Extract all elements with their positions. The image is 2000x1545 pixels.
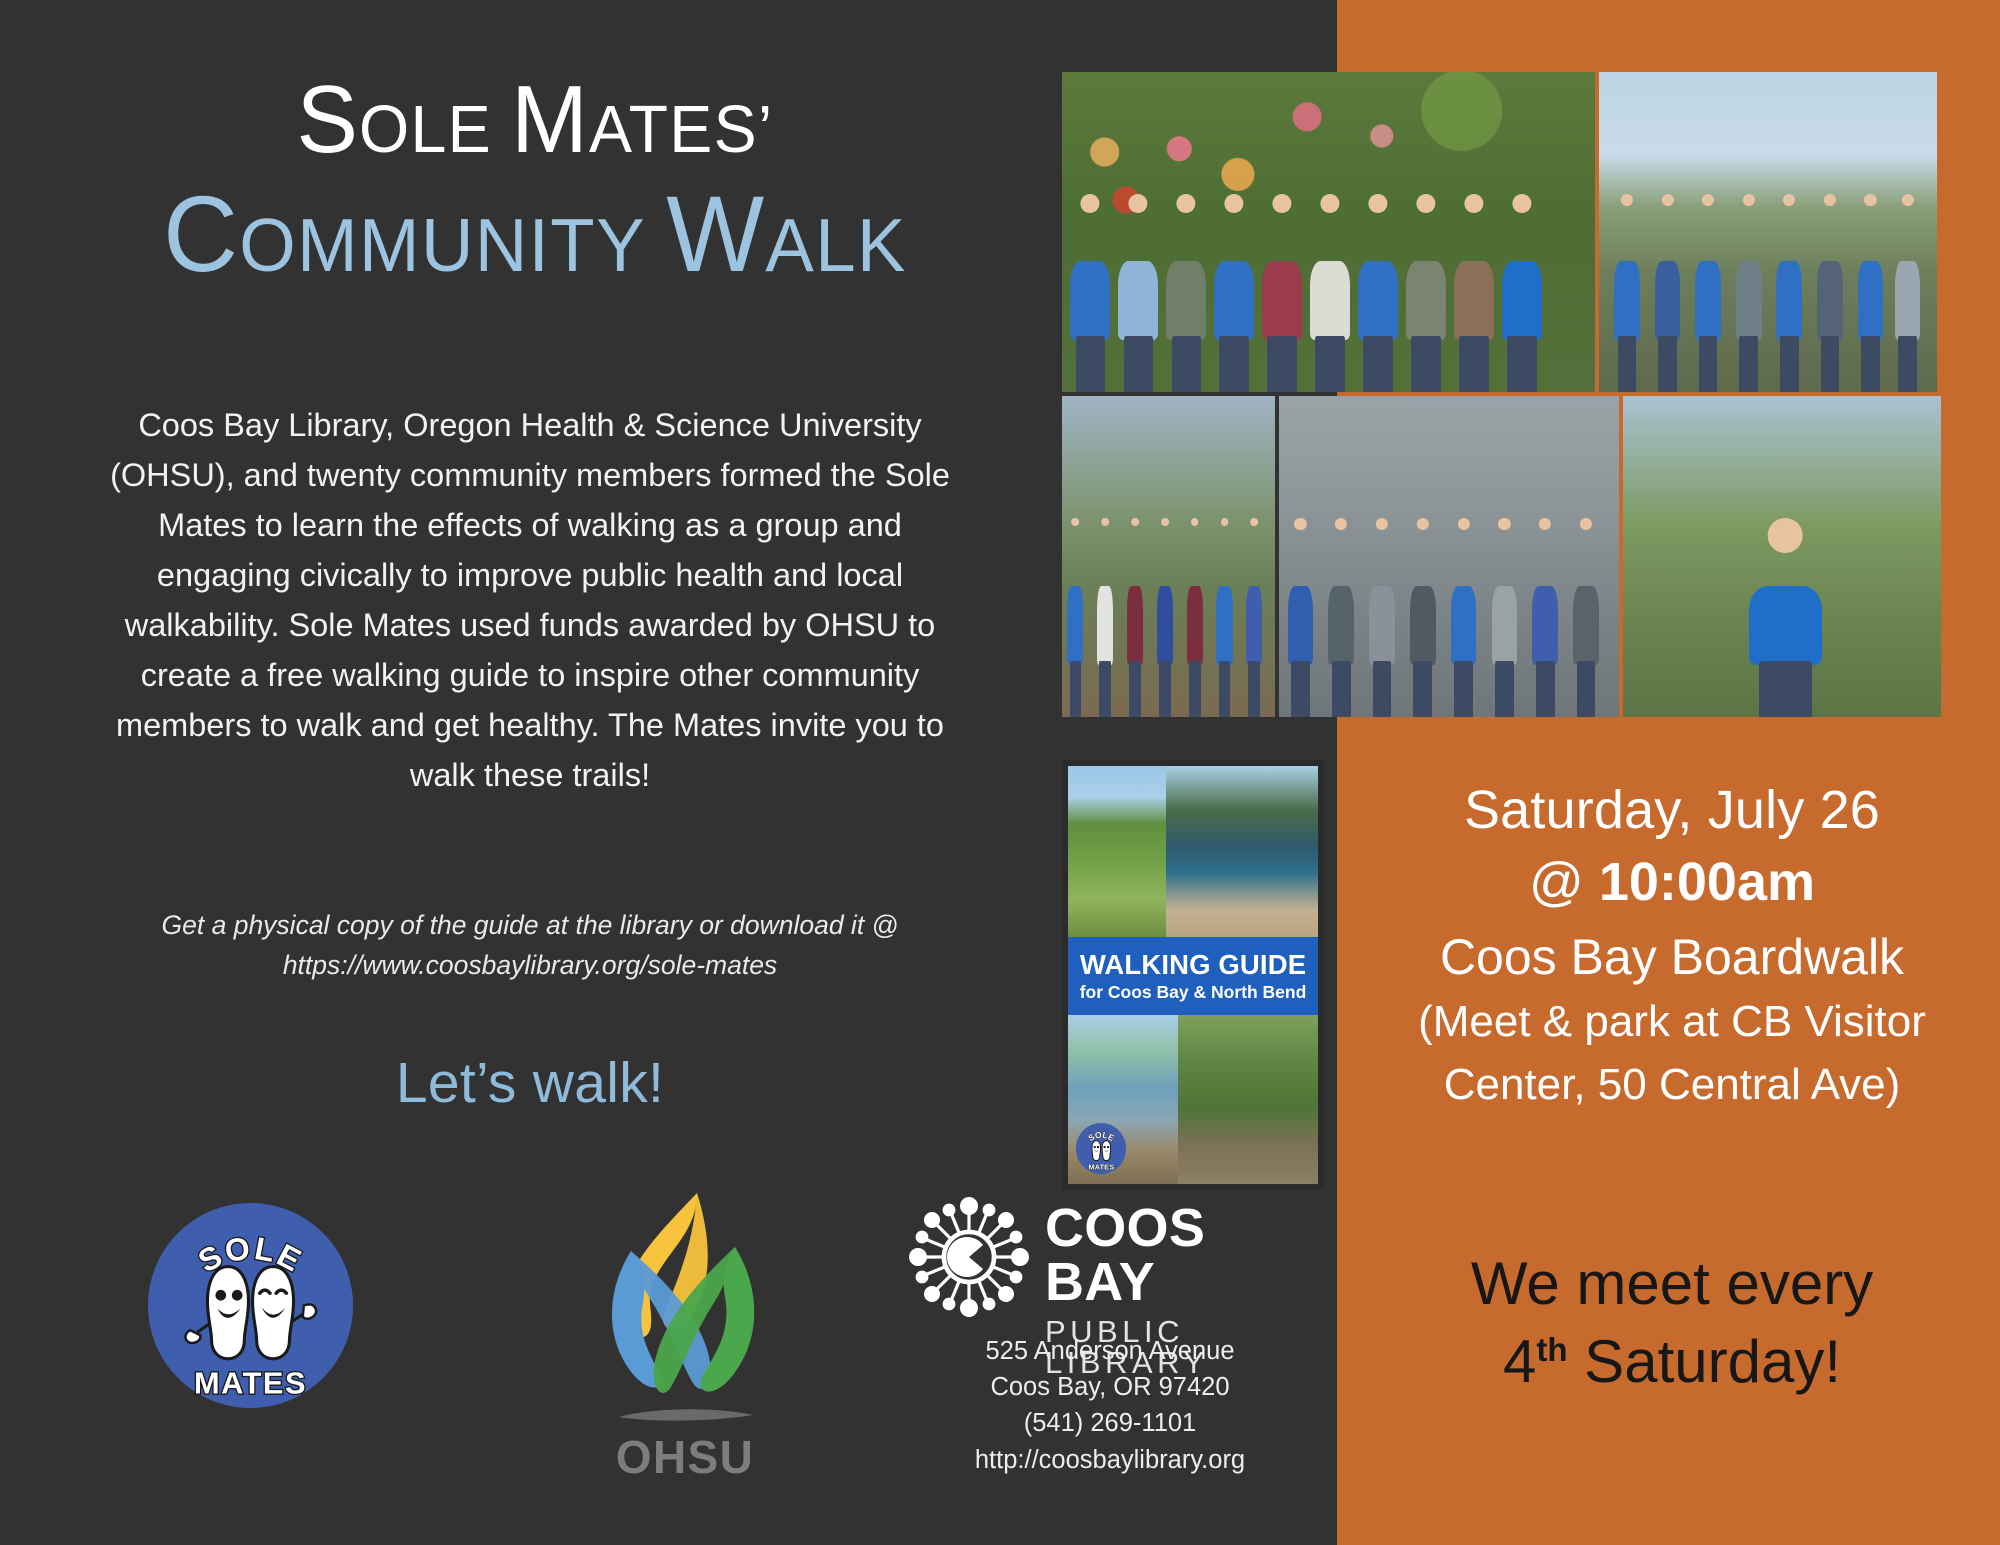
library-website[interactable]: http://coosbaylibrary.org bbox=[905, 1442, 1315, 1478]
photo-people-group bbox=[1279, 518, 1619, 717]
library-network-icon bbox=[905, 1193, 1033, 1321]
photo-people-group bbox=[1623, 518, 1941, 717]
guide-sole-mates-badge: SOLE MATES bbox=[1076, 1123, 1127, 1174]
title-text-ole: OLE bbox=[359, 92, 511, 167]
title-text-ommunity: OMMUNITY bbox=[239, 204, 666, 288]
guide-title: WALKING GUIDE bbox=[1080, 951, 1306, 979]
recurrence-day: Saturday! bbox=[1568, 1328, 1842, 1395]
title-char-m: M bbox=[511, 66, 589, 173]
sole-mates-logo-top-text: SOLE bbox=[192, 1229, 308, 1279]
event-location-note-line-2: Center, 50 Central Ave) bbox=[1352, 1058, 1992, 1113]
title-apostrophe: ’ bbox=[758, 92, 774, 167]
event-date: Saturday, July 26 bbox=[1352, 780, 1992, 840]
left-content-column: SOLE MATES’ COMMUNITY WALK Coos Bay Libr… bbox=[0, 0, 1060, 1545]
sole-mates-logo-icon: SOLE MATES bbox=[148, 1203, 353, 1408]
photo-group-flowers bbox=[1062, 72, 1595, 392]
download-note: Get a physical copy of the guide at the … bbox=[95, 905, 965, 986]
guide-subtitle: for Coos Bay & North Bend bbox=[1080, 984, 1307, 1002]
library-phone: (541) 269-1101 bbox=[905, 1405, 1315, 1441]
photo-people-group bbox=[1062, 518, 1275, 717]
guide-photo-forest bbox=[1178, 1015, 1318, 1184]
sole-mates-logo-icon: SOLE MATES bbox=[1076, 1123, 1127, 1174]
svg-text:SOLE: SOLE bbox=[192, 1229, 308, 1279]
event-recurrence: We meet every 4th Saturday! bbox=[1352, 1245, 1992, 1401]
photo-coastal-bluff bbox=[1599, 72, 1937, 392]
walking-guide-cover: WALKING GUIDE for Coos Bay & North Bend bbox=[1062, 760, 1324, 1190]
body-paragraph: Coos Bay Library, Oregon Health & Scienc… bbox=[95, 400, 965, 800]
guide-badge-top-text: SOLE bbox=[1086, 1130, 1116, 1144]
guide-top-photos bbox=[1068, 766, 1318, 937]
event-time-prefix: @ bbox=[1529, 852, 1599, 912]
library-name: COOS BAY bbox=[1045, 1201, 1315, 1309]
guide-photo-coast bbox=[1166, 766, 1319, 937]
title-char-c: C bbox=[163, 173, 239, 294]
recurrence-ordinal: th bbox=[1536, 1331, 1567, 1368]
recurrence-line-2: 4th Saturday! bbox=[1352, 1323, 1992, 1401]
ohsu-logo bbox=[585, 1185, 785, 1455]
flyer-canvas: SOLE MATES’ COMMUNITY WALK Coos Bay Libr… bbox=[0, 0, 2000, 1545]
title-line-sole-mates: SOLE MATES’ bbox=[79, 72, 991, 168]
library-address: 525 Anderson Avenue bbox=[905, 1333, 1315, 1369]
photo-people-group bbox=[1599, 194, 1937, 392]
photo-rainy-steps-group bbox=[1279, 396, 1619, 717]
recurrence-number: 4 bbox=[1503, 1328, 1536, 1395]
call-to-action-text: Let’s walk! bbox=[95, 1050, 965, 1116]
guide-bottom-photos: SOLE MATES bbox=[1068, 1015, 1318, 1184]
guide-title-band: WALKING GUIDE for Coos Bay & North Bend bbox=[1068, 937, 1318, 1014]
svg-text:SOLE: SOLE bbox=[1086, 1130, 1116, 1144]
coos-bay-library-logo: COOS BAY PUBLIC LIBRARY bbox=[905, 1193, 1315, 1323]
library-contact-block: 525 Anderson Avenue Coos Bay, OR 97420 (… bbox=[905, 1333, 1315, 1478]
event-time-value: 10:00am bbox=[1599, 852, 1815, 912]
event-location-note-line-1: (Meet & park at CB Visitor bbox=[1352, 995, 1992, 1050]
photo-people-group bbox=[1062, 194, 1595, 392]
ohsu-flame-icon bbox=[585, 1185, 785, 1455]
photo-walker-with-guide bbox=[1623, 396, 1941, 717]
logo-row: SOLE MATES bbox=[0, 1185, 1337, 1525]
page-title: SOLE MATES’ COMMUNITY WALK bbox=[60, 72, 1010, 288]
ohsu-wordmark: OHSU bbox=[585, 1430, 785, 1484]
photo-collage-bottom-strip bbox=[1062, 396, 1937, 717]
recurrence-line-1: We meet every bbox=[1352, 1245, 1992, 1323]
sole-mates-logo: SOLE MATES bbox=[148, 1203, 353, 1408]
title-text-ates: ATES bbox=[589, 92, 758, 167]
photo-collage bbox=[1062, 72, 1937, 717]
event-details: Saturday, July 26 @ 10:00am Coos Bay Boa… bbox=[1352, 780, 1992, 1112]
sole-mates-logo-bottom-text: MATES bbox=[194, 1366, 307, 1401]
event-time: @ 10:00am bbox=[1352, 850, 1992, 915]
title-text-alk: ALK bbox=[765, 204, 907, 288]
guide-badge-bottom-text: MATES bbox=[1088, 1163, 1114, 1172]
title-line-community-walk: COMMUNITY WALK bbox=[79, 180, 991, 288]
library-city-state-zip: Coos Bay, OR 97420 bbox=[905, 1369, 1315, 1405]
photo-forest-path-group bbox=[1062, 396, 1275, 717]
title-char-s: S bbox=[296, 66, 359, 173]
guide-photo-trail bbox=[1068, 766, 1166, 937]
title-char-w: W bbox=[666, 173, 765, 294]
event-location: Coos Bay Boardwalk bbox=[1352, 927, 1992, 987]
guide-photo-bridge: SOLE MATES bbox=[1068, 1015, 1178, 1184]
